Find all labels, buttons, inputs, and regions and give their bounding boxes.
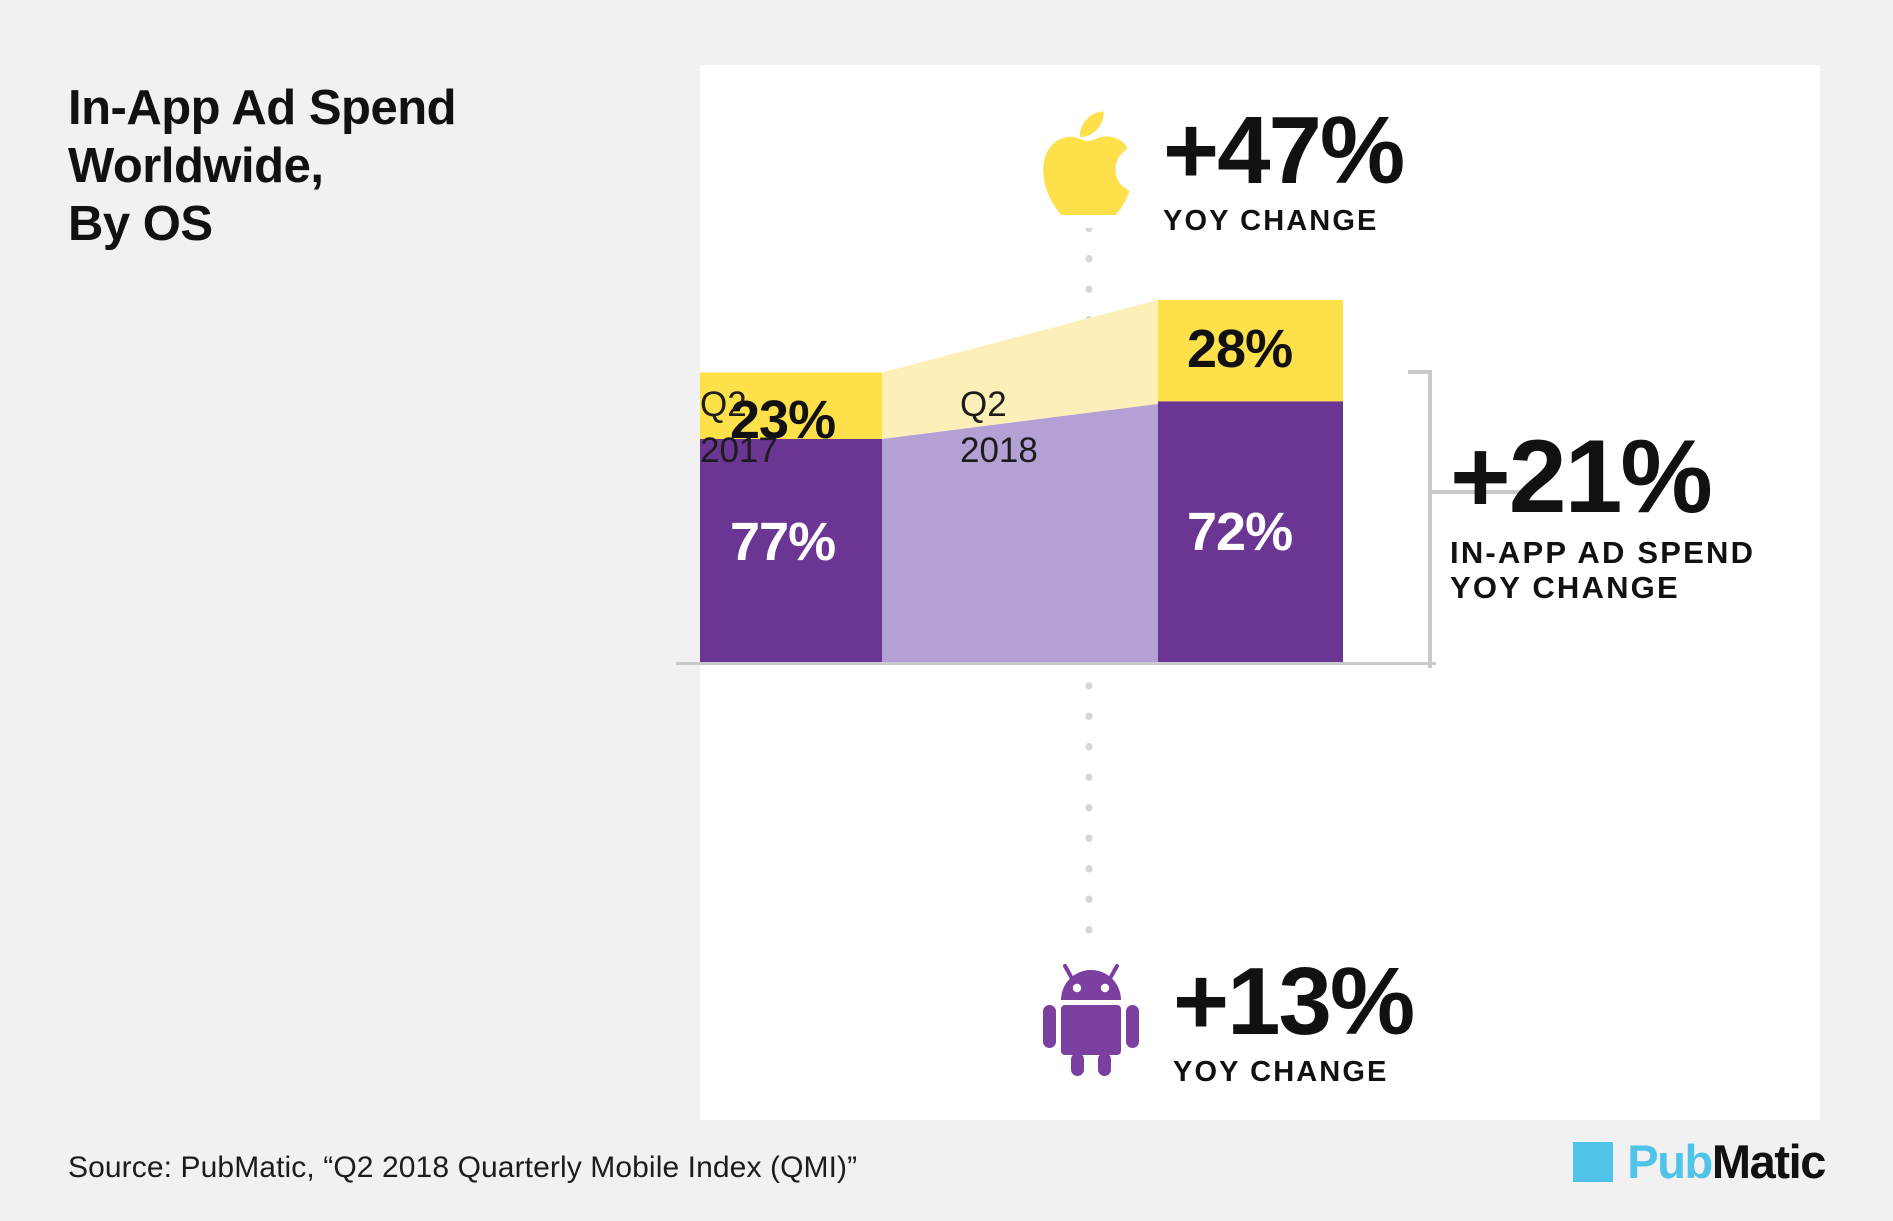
android-robot-icon (1043, 964, 1139, 1076)
total-yoy-label: IN-APP AD SPEND YOY CHANGE (1450, 536, 1850, 605)
logo-pub-text: Pub (1627, 1135, 1712, 1188)
stacked-bar-chart: 23% 77% 28% 72% (700, 300, 1420, 740)
data-label-2018-ios: 28% (1187, 322, 1292, 376)
pubmatic-square-icon (1573, 1142, 1613, 1182)
data-label-2018-android: 72% (1187, 505, 1292, 559)
ios-callout-stats: +47% YOY CHANGE (1163, 105, 1503, 238)
x-axis-label-q2-2018: Q2 2018 (960, 382, 1038, 473)
android-yoy-label: YOY CHANGE (1173, 1056, 1513, 1088)
ios-yoy-value: +47% (1163, 105, 1503, 196)
logo-matic-text: Matic (1712, 1135, 1825, 1188)
infographic-page: In-App Ad Spend Worldwide, By OS +47% YO… (0, 0, 1893, 1221)
android-callout-stats: +13% YOY CHANGE (1173, 956, 1513, 1089)
data-label-2017-android: 77% (730, 515, 835, 569)
source-note: Source: PubMatic, “Q2 2018 Quarterly Mob… (68, 1151, 857, 1185)
apple-logo-icon (1043, 111, 1131, 215)
total-yoy-value: +21% (1450, 428, 1850, 527)
page-title: In-App Ad Spend Worldwide, By OS (68, 80, 588, 253)
chart-baseline (676, 662, 1436, 665)
android-yoy-value: +13% (1173, 956, 1513, 1047)
ios-yoy-label: YOY CHANGE (1163, 205, 1503, 237)
ios-callout: +47% YOY CHANGE (1043, 105, 1513, 265)
chart-plot-area (700, 300, 1420, 662)
total-callout: +21% IN-APP AD SPEND YOY CHANGE (1450, 428, 1850, 605)
pubmatic-logo: PubMatic (1573, 1138, 1825, 1185)
pubmatic-wordmark: PubMatic (1627, 1138, 1825, 1185)
android-callout: +13% YOY CHANGE (1043, 962, 1513, 1122)
x-axis-label-q2-2017: Q2 2017 (700, 382, 778, 473)
